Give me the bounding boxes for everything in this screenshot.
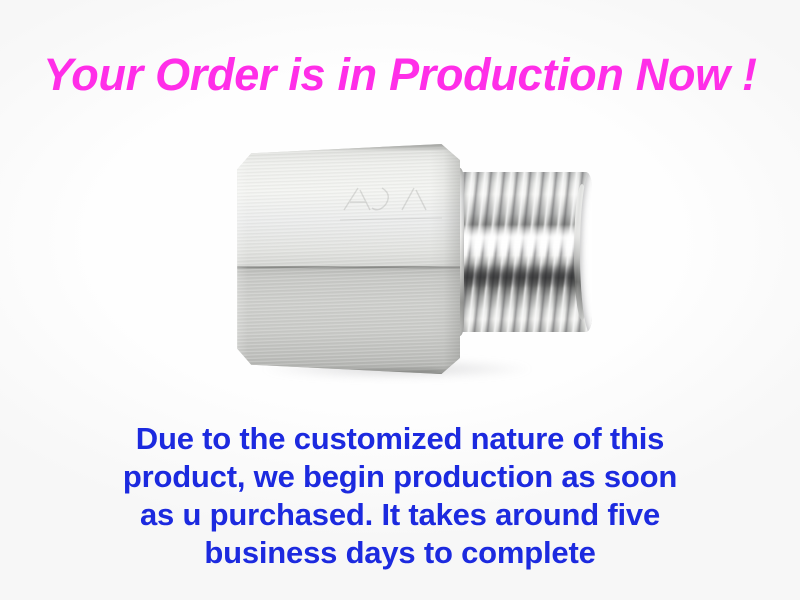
hex-tool-marks-svg — [340, 180, 444, 228]
hex-top-rim — [238, 144, 450, 151]
hex-left-chamfer-highlight — [228, 144, 248, 374]
promo-image-canvas: Your Order is in Production Now ! — [0, 0, 800, 600]
threaded-male-end — [450, 172, 592, 332]
thread-end-face — [574, 184, 590, 320]
hex-nut-body — [228, 144, 460, 374]
product-image-hex-adapter-fitting — [228, 138, 608, 383]
thread-shadow-band — [450, 264, 592, 288]
notice-line-2: product, we begin production as soon — [0, 458, 800, 496]
hex-right-chamfer-shading — [430, 144, 460, 374]
thread-body — [450, 172, 592, 332]
notice-line-1: Due to the customized nature of this — [0, 420, 800, 458]
production-notice-text: Due to the customized nature of this pro… — [0, 420, 800, 572]
notice-line-4: business days to complete — [0, 534, 800, 572]
thread-highlight-band — [450, 224, 592, 254]
headline-text: Your Order is in Production Now ! — [0, 50, 800, 100]
notice-line-3: as u purchased. It takes around five — [0, 496, 800, 534]
hex-tool-marks — [340, 180, 444, 228]
brushed-metal-texture — [228, 144, 460, 374]
